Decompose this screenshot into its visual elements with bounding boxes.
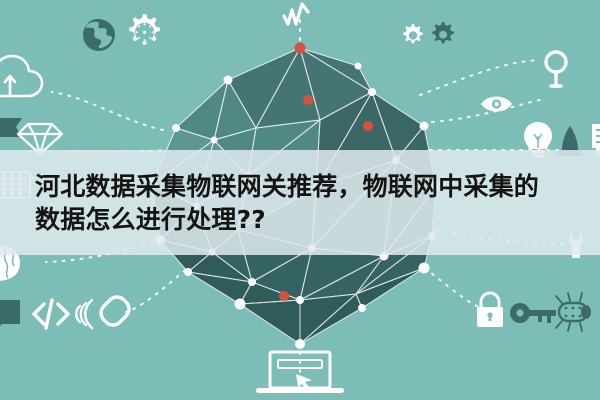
globe-icon [83, 19, 115, 51]
rocket-icon [556, 126, 584, 156]
headline-line-2: 数据怎么进行处理?? [35, 203, 575, 236]
gear-small-icon [403, 24, 422, 43]
search-icon [546, 52, 566, 86]
diamond-icon [18, 124, 62, 154]
wifi-signal-icon [76, 300, 92, 328]
code-icon [34, 300, 68, 328]
bug-icon [556, 293, 591, 331]
page-title: 河北数据采集物联网关推荐，物联网中采集的 数据怎么进行处理?? [35, 170, 575, 236]
speech-bubble-icon [592, 124, 600, 156]
pulse-chart-icon [284, 4, 308, 24]
lightbulb-icon [524, 122, 552, 158]
link-icon [101, 297, 129, 325]
key-icon [510, 303, 556, 323]
monitor-icon [0, 300, 20, 332]
eye-icon [481, 97, 512, 112]
gear-icon [129, 14, 160, 45]
brain-icon [0, 245, 20, 281]
laptop-icon [256, 352, 344, 393]
lock-icon [477, 293, 503, 327]
cloud-upload-icon [0, 56, 42, 96]
iot-banner: 河北数据采集物联网关推荐，物联网中采集的 数据怎么进行处理?? [0, 0, 600, 400]
gear-dark-icon [432, 22, 454, 44]
headline-line-1: 河北数据采集物联网关推荐，物联网中采集的 [35, 170, 575, 203]
keyboard-icon [0, 172, 30, 198]
